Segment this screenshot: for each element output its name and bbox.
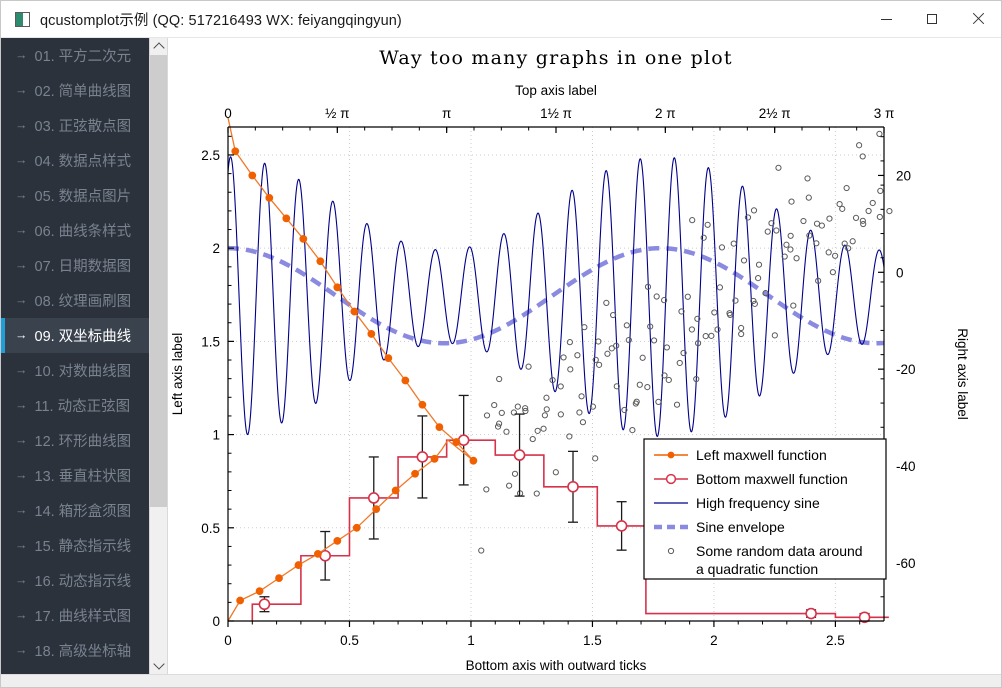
minimize-icon <box>881 19 892 20</box>
chevron-down-icon <box>153 658 164 669</box>
bottom-tick-label: 1 <box>467 633 475 648</box>
data-point <box>295 562 302 569</box>
top-tick-label: π <box>442 106 451 121</box>
legend-marker <box>668 452 675 459</box>
right-axis-label: Right axis label <box>955 328 970 420</box>
data-point <box>392 487 399 494</box>
arrow-right-icon: → <box>15 469 28 482</box>
data-point <box>283 215 290 222</box>
left-axis-label: Left axis label <box>170 333 185 416</box>
arrow-right-icon: → <box>15 364 28 377</box>
sidebar-item-11[interactable]: →11. 动态正弦图 <box>1 388 149 423</box>
window-title: qcustomplot示例 (QQ: 517216493 WX: feiyang… <box>40 9 402 30</box>
sidebar-item-label: 11. 动态正弦图 <box>35 395 131 416</box>
data-marker <box>617 521 627 531</box>
arrow-right-icon: → <box>15 119 28 132</box>
sidebar-item-label: 05. 数据点图片 <box>35 185 132 206</box>
data-point <box>237 597 244 604</box>
data-point <box>373 506 380 513</box>
bottom-tick-label: 1.5 <box>583 633 602 648</box>
arrow-right-icon: → <box>15 504 28 517</box>
sidebar-item-02[interactable]: →02. 简单曲线图 <box>1 73 149 108</box>
right-tick-label: -20 <box>896 362 916 377</box>
arrow-right-icon: → <box>15 609 28 622</box>
data-marker <box>515 450 525 460</box>
sidebar-item-19[interactable]: →19. 颜色热力图 <box>1 668 149 674</box>
arrow-right-icon: → <box>15 259 28 272</box>
arrow-right-icon: → <box>15 154 28 167</box>
arrow-right-icon: → <box>15 399 28 412</box>
scrollbar-track[interactable] <box>150 55 167 657</box>
left-tick-label: 0 <box>212 614 220 629</box>
data-marker <box>320 551 330 561</box>
left-tick-label: 0.5 <box>201 521 220 536</box>
app-logo-icon <box>15 12 30 27</box>
right-tick-label: 0 <box>896 265 904 280</box>
sidebar-item-label: 01. 平方二次元 <box>35 45 132 66</box>
sidebar-item-label: 17. 曲线样式图 <box>35 605 132 626</box>
sidebar: →01. 平方二次元→02. 简单曲线图→03. 正弦散点图→04. 数据点样式… <box>1 38 167 674</box>
data-point <box>334 537 341 544</box>
sidebar-item-07[interactable]: →07. 日期数据图 <box>1 248 149 283</box>
bottom-tick-label: 0.5 <box>340 633 359 648</box>
qcustomplot-canvas[interactable]: Way too many graphs in one plotTop axis … <box>168 38 1001 674</box>
left-tick-label: 2 <box>212 241 220 256</box>
sidebar-item-label: 03. 正弦散点图 <box>35 115 132 136</box>
sidebar-item-09[interactable]: →09. 双坐标曲线 <box>1 318 149 353</box>
sidebar-item-18[interactable]: →18. 高级坐标轴 <box>1 633 149 668</box>
data-point <box>436 424 443 431</box>
data-marker <box>417 452 427 462</box>
legend-label: Bottom maxwell function <box>696 471 848 487</box>
top-tick-label: ½ π <box>325 106 349 121</box>
data-point <box>317 258 324 265</box>
maximize-button[interactable] <box>909 1 955 37</box>
sidebar-item-label: 09. 双坐标曲线 <box>35 325 132 346</box>
sidebar-item-16[interactable]: →16. 动态指示线 <box>1 563 149 598</box>
arrow-right-icon: → <box>15 294 28 307</box>
sidebar-item-label: 10. 对数曲线图 <box>35 360 132 381</box>
bottom-axis-label: Bottom axis with outward ticks <box>466 658 647 673</box>
sidebar-item-06[interactable]: →06. 曲线条样式 <box>1 213 149 248</box>
legend-marker <box>667 475 676 484</box>
sidebar-item-list: →01. 平方二次元→02. 简单曲线图→03. 正弦散点图→04. 数据点样式… <box>1 38 149 674</box>
bottom-strip <box>1 674 1001 687</box>
scroll-up-button[interactable] <box>150 38 167 55</box>
top-axis-label: Top axis label <box>515 83 597 98</box>
data-marker <box>369 493 379 503</box>
legend-label: Some random data around <box>696 543 863 559</box>
sidebar-item-17[interactable]: →17. 曲线样式图 <box>1 598 149 633</box>
top-tick-label: 0 <box>224 106 232 121</box>
data-point <box>314 550 321 557</box>
data-marker <box>568 482 578 492</box>
title-bar: qcustomplot示例 (QQ: 517216493 WX: feiyang… <box>1 1 1001 38</box>
data-point <box>300 235 307 242</box>
data-point <box>232 148 239 155</box>
left-tick-label: 2.5 <box>201 148 220 163</box>
data-point <box>419 401 426 408</box>
data-point <box>431 455 438 462</box>
arrow-right-icon: → <box>15 539 28 552</box>
legend[interactable]: Left maxwell functionBottom maxwell func… <box>644 439 886 579</box>
sidebar-item-01[interactable]: →01. 平方二次元 <box>1 38 149 73</box>
data-point <box>368 331 375 338</box>
sidebar-item-label: 04. 数据点样式 <box>35 150 132 171</box>
data-point <box>266 194 273 201</box>
data-point <box>412 470 419 477</box>
sidebar-item-04[interactable]: →04. 数据点样式 <box>1 143 149 178</box>
sidebar-item-label: 13. 垂直柱状图 <box>35 465 132 486</box>
right-tick-label: 20 <box>896 168 911 183</box>
arrow-right-icon: → <box>15 329 28 342</box>
sidebar-item-05[interactable]: →05. 数据点图片 <box>1 178 149 213</box>
sidebar-item-label: 16. 动态指示线 <box>35 570 132 591</box>
top-tick-label: 2 π <box>655 106 676 121</box>
data-point <box>256 588 263 595</box>
main-area: →01. 平方二次元→02. 简单曲线图→03. 正弦散点图→04. 数据点样式… <box>1 38 1001 674</box>
arrow-right-icon: → <box>15 574 28 587</box>
data-point <box>249 172 256 179</box>
data-marker <box>259 599 269 609</box>
close-icon <box>972 13 984 25</box>
data-point <box>402 377 409 384</box>
legend-label: Sine envelope <box>696 519 785 535</box>
window-controls <box>863 1 1001 37</box>
top-tick-label: 1½ π <box>540 106 572 121</box>
minimize-button[interactable] <box>863 1 909 37</box>
data-point <box>353 524 360 531</box>
arrow-right-icon: → <box>15 644 28 657</box>
arrow-right-icon: → <box>15 84 28 97</box>
left-tick-label: 1.5 <box>201 334 220 349</box>
legend-label: Left maxwell function <box>696 447 827 463</box>
sidebar-item-08[interactable]: →08. 纹理画刷图 <box>1 283 149 318</box>
bottom-tick-label: 0 <box>224 633 232 648</box>
legend-label-cont: a quadratic function <box>696 561 818 577</box>
sidebar-item-10[interactable]: →10. 对数曲线图 <box>1 353 149 388</box>
sidebar-item-label: 15. 静态指示线 <box>35 535 132 556</box>
top-tick-label: 2½ π <box>759 106 791 121</box>
data-point <box>470 457 477 464</box>
sidebar-item-label: 08. 纹理画刷图 <box>35 290 132 311</box>
sidebar-item-label: 02. 简单曲线图 <box>35 80 132 101</box>
sidebar-item-label: 07. 日期数据图 <box>35 255 132 276</box>
bottom-tick-label: 2 <box>710 633 718 648</box>
top-tick-label: 3 π <box>874 106 895 121</box>
app-window: qcustomplot示例 (QQ: 517216493 WX: feiyang… <box>0 0 1002 688</box>
sidebar-item-label: 06. 曲线条样式 <box>35 220 132 241</box>
sidebar-item-13[interactable]: →13. 垂直柱状图 <box>1 458 149 493</box>
maximize-icon <box>927 14 937 24</box>
chevron-up-icon <box>153 42 164 53</box>
legend-label: High frequency sine <box>696 495 820 511</box>
sidebar-item-14[interactable]: →14. 箱形盒须图 <box>1 493 149 528</box>
arrow-right-icon: → <box>15 189 28 202</box>
right-tick-label: -40 <box>896 459 916 474</box>
data-point <box>334 284 341 291</box>
arrow-right-icon: → <box>15 49 28 62</box>
chart-title: Way too many graphs in one plot <box>379 47 732 69</box>
sidebar-scrollbar[interactable] <box>149 38 167 674</box>
data-point <box>453 439 460 446</box>
plot-panel[interactable]: Way too many graphs in one plotTop axis … <box>167 38 1001 674</box>
sidebar-item-label: 14. 箱形盒须图 <box>35 500 132 521</box>
data-point <box>276 575 283 582</box>
scroll-down-button[interactable] <box>150 657 167 674</box>
data-point <box>385 355 392 362</box>
right-tick-label: -60 <box>896 556 916 571</box>
sidebar-item-label: 12. 环形曲线图 <box>35 430 132 451</box>
sidebar-item-12[interactable]: →12. 环形曲线图 <box>1 423 149 458</box>
sidebar-item-label: 18. 高级坐标轴 <box>35 640 132 661</box>
sidebar-item-03[interactable]: →03. 正弦散点图 <box>1 108 149 143</box>
close-button[interactable] <box>955 1 1001 37</box>
arrow-right-icon: → <box>15 434 28 447</box>
arrow-right-icon: → <box>15 224 28 237</box>
left-tick-label: 1 <box>212 428 220 443</box>
data-point <box>351 308 358 315</box>
scrollbar-thumb[interactable] <box>150 55 167 507</box>
sidebar-item-15[interactable]: →15. 静态指示线 <box>1 528 149 563</box>
bottom-tick-label: 2.5 <box>826 633 845 648</box>
data-marker <box>806 609 816 619</box>
data-marker <box>459 435 469 445</box>
